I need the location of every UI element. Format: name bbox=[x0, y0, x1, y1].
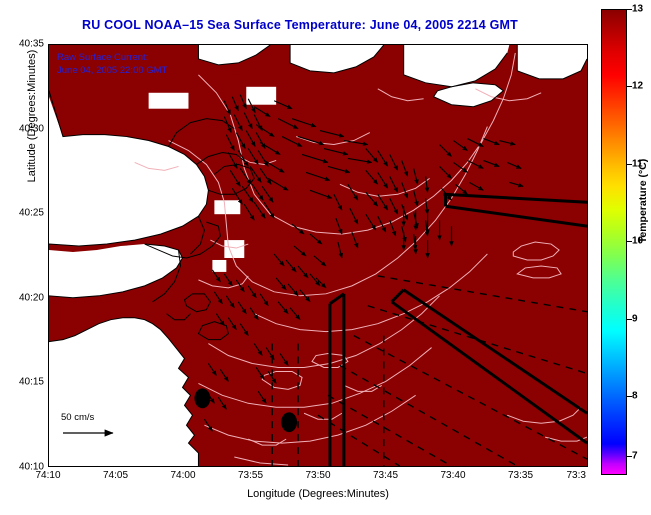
xtick-6: 73:40 bbox=[440, 470, 465, 481]
colorbar-tick-9: 9 bbox=[632, 313, 638, 324]
xtick-3: 73:55 bbox=[238, 470, 263, 481]
radar-station-marker-2[interactable] bbox=[281, 412, 297, 432]
colorbar-label: Temperature (°C) bbox=[637, 141, 649, 261]
xtick-5: 73:45 bbox=[373, 470, 398, 481]
ytick-4: 40:15 bbox=[19, 377, 44, 388]
sst-gap-3 bbox=[224, 240, 244, 258]
colorbar-tick-8: 8 bbox=[632, 390, 638, 401]
colorbar-tick-13: 13 bbox=[632, 4, 643, 15]
xtick-8: 73:3 bbox=[566, 470, 585, 481]
map-plot-area bbox=[49, 45, 587, 466]
current-annotation-line2: June 04, 2005 22:00 GMT bbox=[57, 64, 167, 77]
y-axis-label: Latitude (Degrees:Minutes) bbox=[26, 16, 38, 216]
colorbar bbox=[601, 9, 627, 475]
xtick-4: 73:50 bbox=[305, 470, 330, 481]
sst-gap-1 bbox=[105, 185, 149, 207]
xtick-1: 74:05 bbox=[103, 470, 128, 481]
ytick-5: 40:10 bbox=[19, 462, 44, 473]
ytick-3: 40:20 bbox=[19, 292, 44, 303]
colorbar-tick-7: 7 bbox=[632, 451, 638, 462]
vector-scale-key: 50 cm/s bbox=[61, 412, 125, 444]
sst-gap-6 bbox=[149, 93, 189, 109]
sst-gap-5 bbox=[246, 87, 276, 105]
xtick-2: 74:00 bbox=[170, 470, 195, 481]
current-annotation: Raw Surface Current: June 04, 2005 22:00… bbox=[57, 51, 167, 77]
figure-canvas: RU COOL NOAA–15 Sea Surface Temperature:… bbox=[0, 0, 651, 515]
radar-station-marker-1[interactable] bbox=[194, 388, 210, 408]
sst-gap-4 bbox=[212, 260, 226, 272]
xtick-7: 73:35 bbox=[508, 470, 533, 481]
vector-scale-label: 50 cm/s bbox=[61, 412, 125, 423]
x-axis-label: Longitude (Degrees:Minutes) bbox=[48, 488, 588, 500]
current-annotation-line1: Raw Surface Current: bbox=[57, 51, 167, 64]
sst-gap-2 bbox=[214, 200, 240, 214]
map-axes: Raw Surface Current: June 04, 2005 22:00… bbox=[48, 44, 588, 467]
colorbar-tick-12: 12 bbox=[632, 81, 643, 92]
figure-title: RU COOL NOAA–15 Sea Surface Temperature:… bbox=[0, 18, 600, 32]
vector-scale-arrow-icon bbox=[61, 427, 125, 439]
